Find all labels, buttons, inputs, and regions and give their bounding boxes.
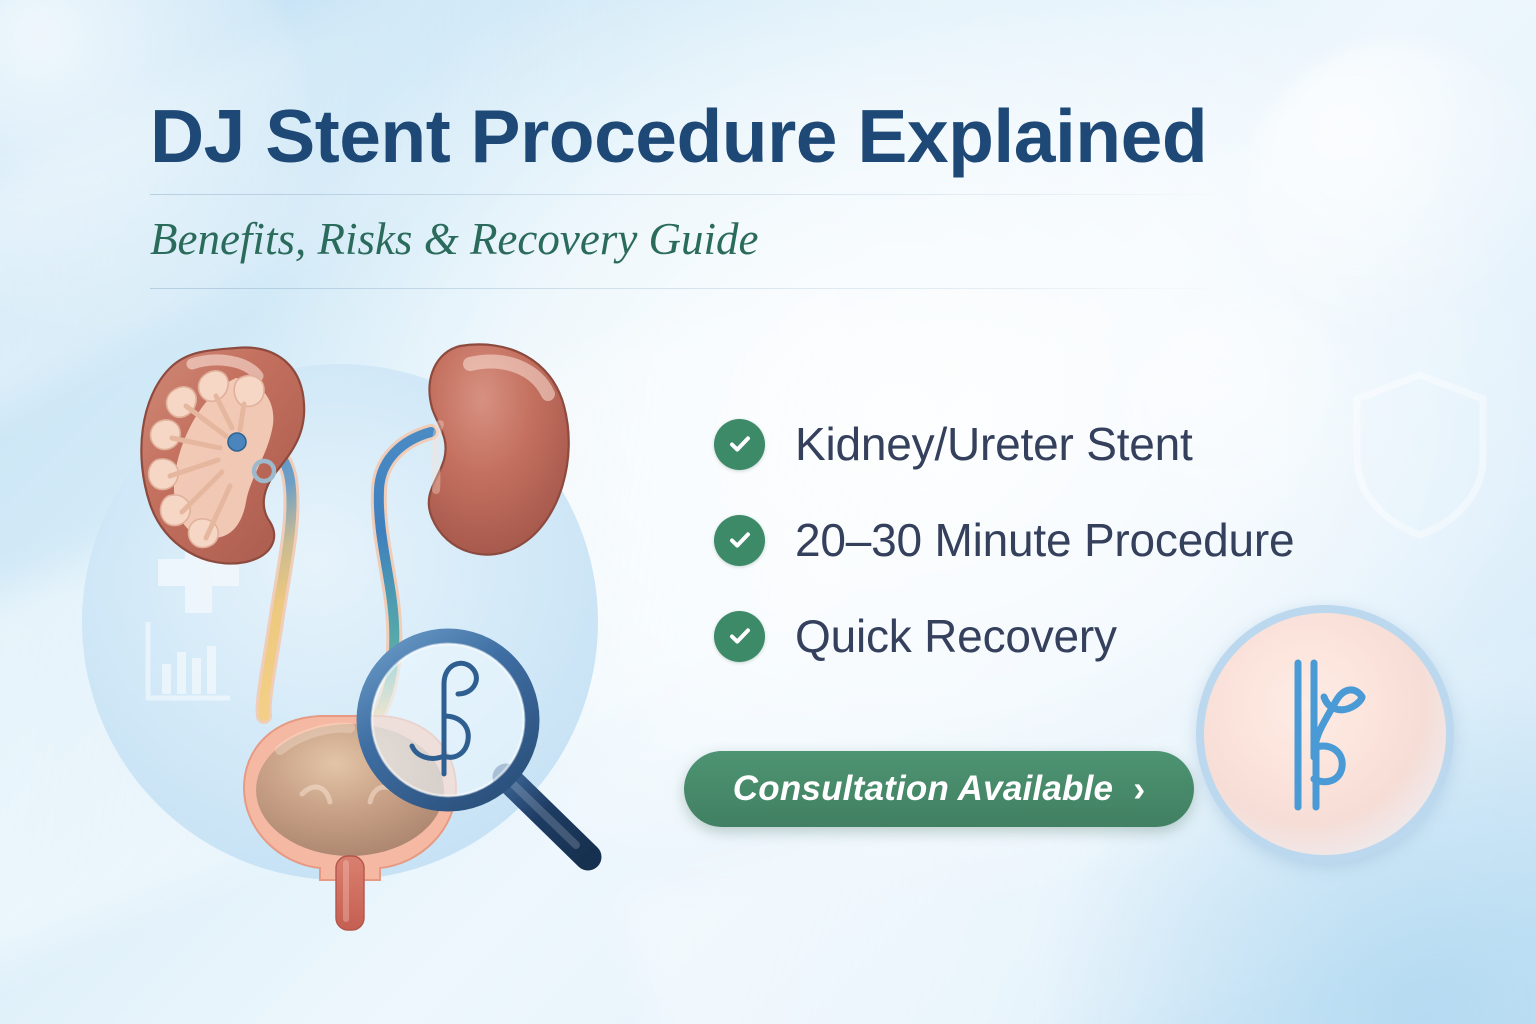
consultation-available-button[interactable]: Consultation Available › xyxy=(684,751,1194,827)
check-circle-icon xyxy=(714,515,765,566)
divider-top xyxy=(150,194,1235,195)
feature-label: Quick Recovery xyxy=(795,609,1117,663)
feature-label: 20–30 Minute Procedure xyxy=(795,513,1294,567)
poster-canvas: DJ Stent Procedure Explained Benefits, R… xyxy=(0,0,1536,1024)
renal-hilum xyxy=(228,433,246,451)
check-circle-icon xyxy=(714,611,765,662)
header: DJ Stent Procedure Explained Benefits, R… xyxy=(150,96,1350,289)
urethra xyxy=(336,856,364,930)
feature-item: Kidney/Ureter Stent xyxy=(714,396,1414,492)
feature-item: 20–30 Minute Procedure xyxy=(714,492,1414,588)
dj-stent-closeup-badge xyxy=(1196,605,1454,863)
divider-bottom xyxy=(150,288,1235,289)
page-title: DJ Stent Procedure Explained xyxy=(150,96,1350,177)
urinary-tract-illustration xyxy=(40,312,660,932)
page-subtitle: Benefits, Risks & Recovery Guide xyxy=(150,215,1350,265)
chevron-right-icon: › xyxy=(1133,771,1145,807)
urinary-tract-diagram xyxy=(40,312,660,932)
dj-stent-diagram xyxy=(1240,639,1410,829)
cta-label: Consultation Available xyxy=(733,769,1113,809)
feature-label: Kidney/Ureter Stent xyxy=(795,417,1193,471)
check-circle-icon xyxy=(714,419,765,470)
